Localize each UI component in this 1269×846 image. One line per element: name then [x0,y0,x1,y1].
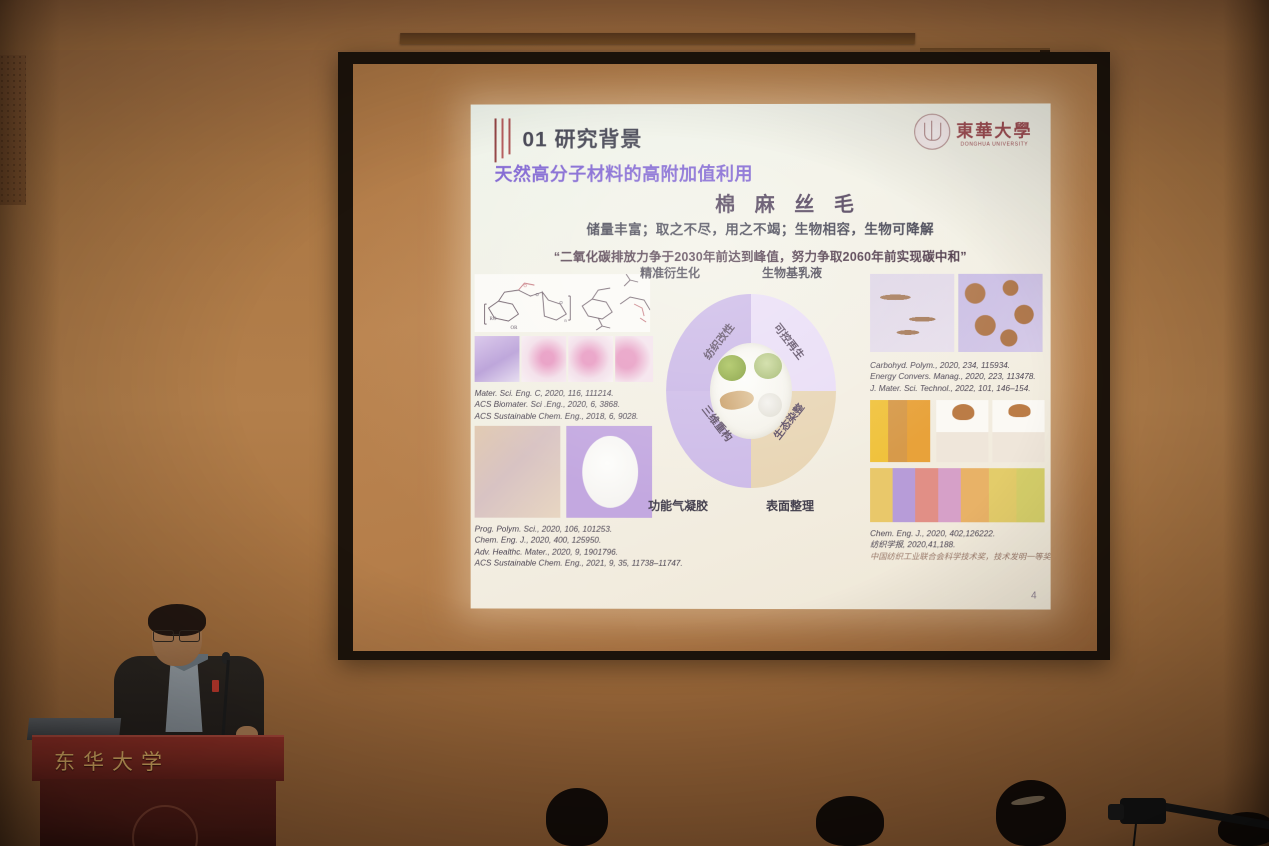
image-tile-aerogel-disc-inner [582,436,638,508]
citation-line: Energy Convers. Manag., 2020, 223, 11347… [870,371,1036,382]
image-tile-hydrogel-d [615,336,653,382]
screen-surface: 01 研究背景 東華大學 DONGHUA UNIVERSITY 天然高分子材料的… [353,64,1097,651]
citation-right-top: Carbohyd. Polym., 2020, 234, 115934. Ene… [870,360,1036,394]
lectern-nameplate: 东华大学 [54,746,170,776]
logo-chinese-name: 東華大學 [956,116,1032,141]
slide-subline: 储量丰富；取之不尽，用之不竭；生物相容，生物可降解 [471,218,1051,239]
citation-line: ACS Biomater. Sci .Eng., 2020, 6, 3868. [475,399,639,410]
university-seal-icon [914,114,950,150]
hub-plant-icon [718,355,746,381]
slide-headline-purple: 天然高分子材料的高附加值利用 [495,160,753,186]
image-tile-hydrogel-a [475,336,520,382]
slide-headline-center: 棉 麻 丝 毛 [471,188,1051,218]
svg-text:n: n [564,318,567,323]
concept-wheel-diagram: 纺织改性 可控再生 三维重构 生态染整 [656,286,846,496]
lectern-top-panel: 东华大学 [32,735,284,781]
citation-left-bottom: Prog. Polym. Sci., 2020, 106, 101253. Ch… [475,524,683,569]
slide-page-number: 4 [1031,590,1037,601]
image-tile-vials [870,400,930,462]
citation-line: J. Mater. Sci. Technol., 2022, 101, 146–… [870,383,1036,394]
projection-screen-assembly: 01 研究背景 東華大學 DONGHUA UNIVERSITY 天然高分子材料的… [338,52,1269,662]
wheel-outer-label-top-right: 生物基乳液 [762,264,822,281]
svg-text:O: O [523,283,527,288]
citation-left-top: Mater. Sci. Eng. C, 2020, 116, 111214. A… [475,388,639,422]
citation-line: Carbohyd. Polym., 2020, 234, 115934. [870,360,1036,371]
svg-text:O: O [559,300,563,305]
wheel-outer-label-top-left: 精准衍生化 [640,264,700,281]
image-tile-hydrogel-c [568,336,613,382]
glasses-icon [153,630,201,640]
slide-header: 01 研究背景 [493,118,643,162]
citation-line: Mater. Sci. Eng. C, 2020, 116, 111214. [475,388,639,399]
svg-text:OR: OR [510,326,518,331]
screen-frame: 01 研究背景 東華大學 DONGHUA UNIVERSITY 天然高分子材料的… [338,52,1110,660]
audience-head [816,796,884,846]
citation-line: ACS Sustainable Chem. Eng., 2018, 6, 902… [475,411,639,422]
image-tile-hydrogel-b [521,336,566,382]
citation-line: Prog. Polym. Sci., 2020, 106, 101253. [475,524,683,536]
citation-right-bottom: Chem. Eng. J., 2020, 402,126222. 纺织学报, 2… [870,528,1051,562]
slide-title: 01 研究背景 [522,129,642,152]
slide-quote-line: “二氧化碳排放力争于2030年前达到峰值，努力争取2060年前实现碳中和” [471,246,1051,265]
svg-text:RO: RO [490,317,497,322]
camera-lens-icon [1108,804,1124,820]
citation-line: 中国纺织工业联合会科学技术奖，技术发明一等奖 [870,551,1051,563]
image-tile-sem-porous [958,274,1042,352]
polysaccharide-structure-icon: RO OR O O O n [475,274,650,332]
citation-line: Adv. Healthc. Mater., 2020, 9, 1901796. [475,546,683,558]
contact-angle-drop-2 [1008,404,1030,417]
ceiling-light-slot [400,33,915,44]
speaker-badge [212,680,219,692]
hub-fiber-icon [719,388,756,413]
image-tile-sem-network [870,274,954,352]
contact-angle-drop-1 [952,404,974,420]
citation-line: ACS Sustainable Chem. Eng., 2021, 9, 35,… [475,558,683,570]
citation-line: Chem. Eng. J., 2020, 400, 125950. [475,535,683,547]
audience-head [996,780,1066,846]
chemical-structure-panel: RO OR O O O n [475,274,650,332]
audience-head [546,788,608,846]
lectern: 东华大学 [32,735,284,846]
logo-text: 東華大學 DONGHUA UNIVERSITY [956,116,1032,147]
projected-slide: 01 研究背景 東華大學 DONGHUA UNIVERSITY 天然高分子材料的… [471,103,1051,609]
citation-line: Chem. Eng. J., 2020, 402,126222. [870,528,1051,540]
camera-body [1120,798,1166,824]
university-logo: 東華大學 DONGHUA UNIVERSITY [914,114,1032,150]
citation-line: 纺织学报, 2020,41,188. [870,539,1051,551]
hub-boll-icon [758,393,782,417]
lectern-body [40,779,276,846]
image-tile-aerogel-fabric [475,426,561,518]
logo-english-name: DONGHUA UNIVERSITY [956,141,1032,147]
hub-cotton-icon [754,353,782,379]
title-rule-marks [493,118,515,162]
lectern-emblem [132,805,198,846]
image-tile-dyed-fabric-strips [870,468,1045,522]
presentation-room-photo: 01 研究背景 東華大學 DONGHUA UNIVERSITY 天然高分子材料的… [0,0,1269,846]
svg-text:O: O [535,292,539,297]
wheel-outer-label-bottom-right: 表面整理 [766,497,814,514]
wheel-outer-label-bottom-left: 功能气凝胶 [648,497,708,514]
